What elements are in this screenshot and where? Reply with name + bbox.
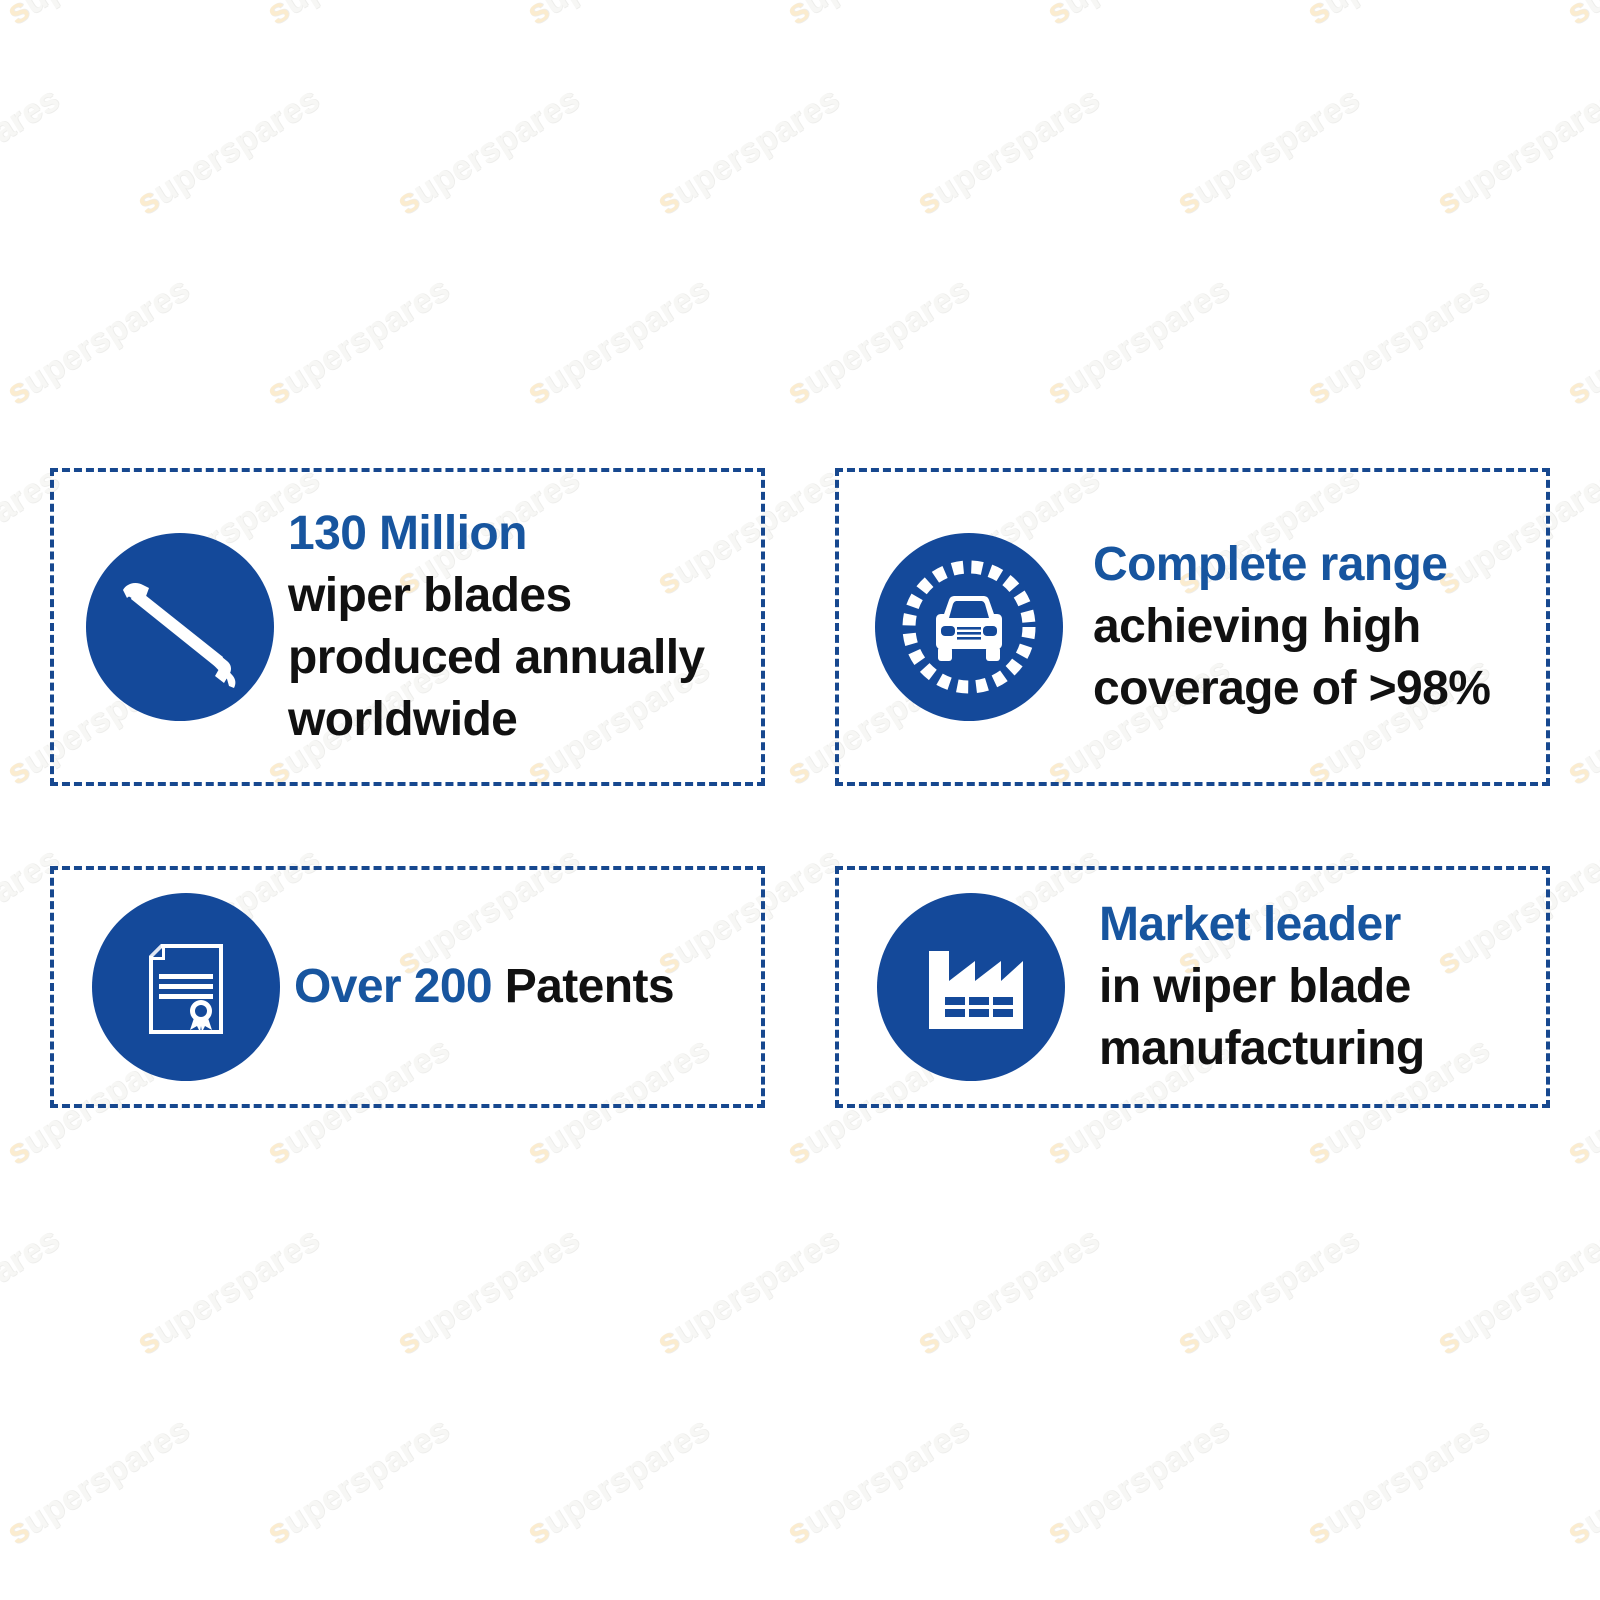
watermark-text: superspares [1170, 80, 1367, 223]
watermark-text: superspares [1040, 270, 1237, 413]
watermark-text: superspares [1040, 0, 1237, 33]
watermark-text: superspares [1300, 270, 1497, 413]
fact-line: manufacturing [1099, 1018, 1536, 1080]
watermark-text: superspares [1430, 80, 1600, 223]
watermark-text: superspares [0, 1410, 197, 1553]
watermark-text: superspares [0, 0, 197, 33]
watermark-text: superspares [1040, 1410, 1237, 1553]
watermark-text: superspares [780, 270, 977, 413]
fact-text-market-leader: Market leader in wiper blade manufacturi… [1099, 894, 1546, 1080]
fact-text-patents: Over 200 Patents [294, 870, 761, 1104]
car-in-dashed-circle-icon [875, 533, 1063, 721]
factory-body [929, 951, 1023, 1029]
watermark-text: superspares [1560, 0, 1600, 33]
watermark-text: superspares [1300, 0, 1497, 33]
watermark-text: superspares [130, 80, 327, 223]
fact-line-patents: Over 200 Patents [294, 956, 674, 1018]
wiper-blade-icon [86, 533, 274, 721]
fact-card-coverage: Complete range achieving high coverage o… [835, 468, 1550, 786]
fact-text-wiper-volume: 130 Million wiper blades produced annual… [288, 503, 761, 751]
watermark-text: superspares [1560, 1030, 1600, 1173]
fact-line: worldwide [288, 689, 751, 751]
factory-icon [877, 893, 1065, 1081]
watermark-text: superspares [520, 1410, 717, 1553]
watermark-text: superspares [650, 80, 847, 223]
fact-card-wiper-volume: 130 Million wiper blades produced annual… [50, 468, 765, 786]
facts-grid: 130 Million wiper blades produced annual… [50, 468, 1550, 1108]
watermark-text: superspares [390, 80, 587, 223]
fact-line: Market leader [1099, 894, 1536, 956]
watermark-text: superspares [910, 80, 1107, 223]
fact-line: achieving high [1093, 596, 1536, 658]
fact-line-dark: Patents [492, 960, 674, 1013]
watermark-text: superspares [780, 0, 977, 33]
watermark-text: superspares [260, 1410, 457, 1553]
watermark-text: superspares [520, 0, 717, 33]
watermark-text: superspares [910, 1220, 1107, 1363]
watermark-text: superspares [1430, 1220, 1600, 1363]
certificate-patent-icon [92, 893, 280, 1081]
fact-line: 130 Million [288, 503, 751, 565]
fact-line: coverage of >98% [1093, 658, 1536, 720]
fact-text-coverage: Complete range achieving high coverage o… [1093, 534, 1546, 720]
fact-card-patents: Over 200 Patents [50, 866, 765, 1108]
certificate-lines [159, 974, 213, 999]
fact-line: produced annually [288, 627, 751, 689]
watermark-text: superspares [520, 270, 717, 413]
watermark-text: superspares [0, 270, 197, 413]
fact-line: in wiper blade [1099, 956, 1536, 1018]
fact-line-accent: Over 200 [294, 960, 492, 1013]
watermark-text: superspares [0, 1220, 67, 1363]
watermark-text: superspares [1560, 650, 1600, 793]
watermark-text: superspares [390, 1220, 587, 1363]
watermark-text: superspares [260, 0, 457, 33]
watermark-text: superspares [1170, 1220, 1367, 1363]
watermark-text: superspares [650, 1220, 847, 1363]
fact-line: wiper blades [288, 565, 751, 627]
fact-line: Complete range [1093, 534, 1536, 596]
watermark-text: superspares [780, 1410, 977, 1553]
watermark-text: superspares [1560, 270, 1600, 413]
watermark-text: superspares [0, 80, 67, 223]
fact-card-market-leader: Market leader in wiper blade manufacturi… [835, 866, 1550, 1108]
watermark-text: superspares [1560, 1410, 1600, 1553]
watermark-text: superspares [260, 270, 457, 413]
watermark-text: superspares [130, 1220, 327, 1363]
watermark-text: superspares [1300, 1410, 1497, 1553]
